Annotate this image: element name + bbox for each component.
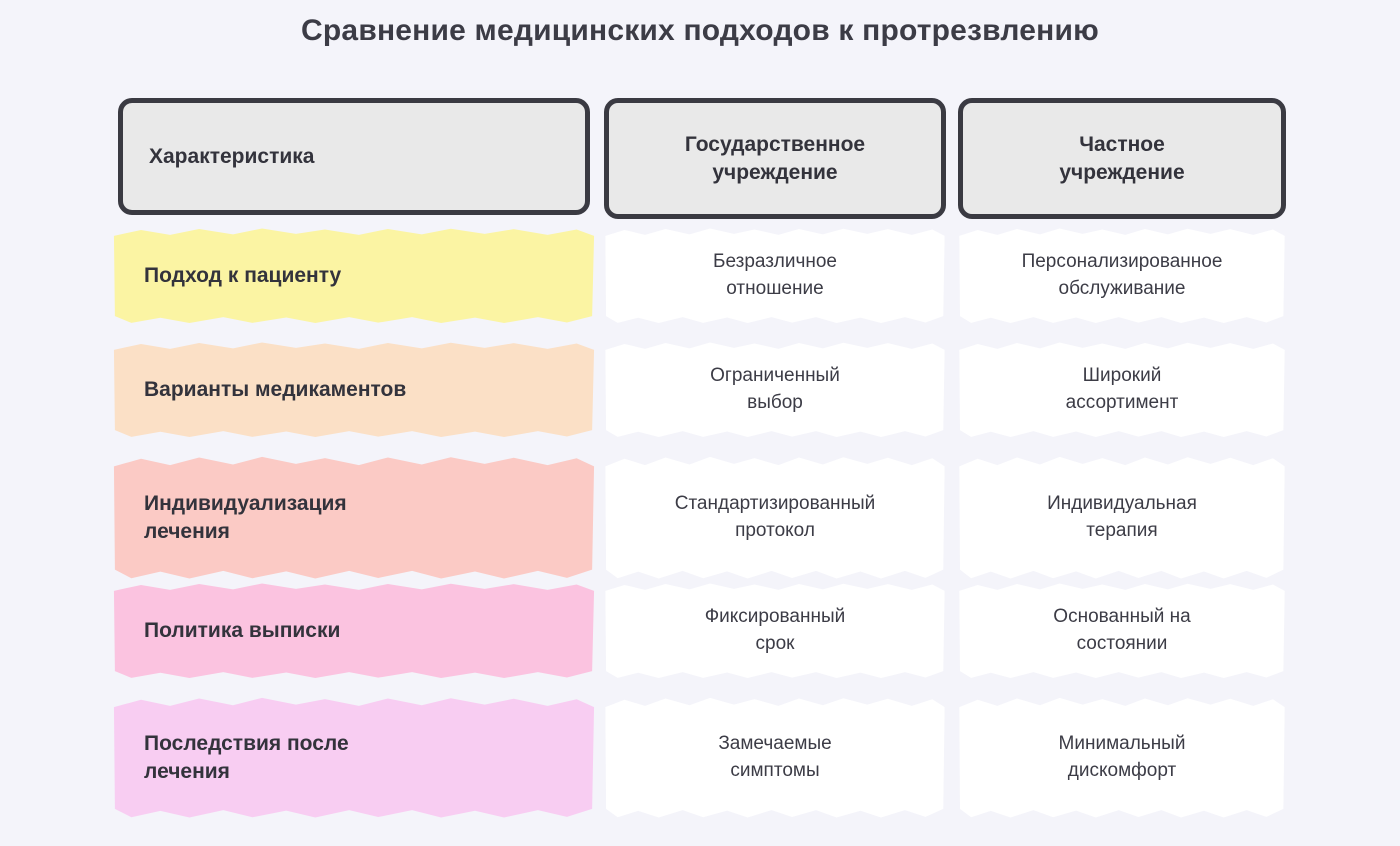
cell-value-text: Замечаемыесимптомы: [706, 731, 843, 785]
row-label-text: Варианты медикаментов: [112, 376, 420, 404]
cell-value-text: Ограниченныйвыбор: [698, 363, 852, 417]
row-label-text: Политика выписки: [112, 617, 354, 645]
header-label: Характеристика: [149, 143, 314, 171]
cell-value-text: Фиксированныйсрок: [693, 604, 858, 658]
cell-value-text: Индивидуальнаятерапия: [1035, 491, 1209, 545]
cell-value-text: Широкийассортимент: [1054, 363, 1191, 417]
row-label-cell: Политика выписки: [112, 582, 596, 680]
row-label-text: Подход к пациенту: [112, 262, 355, 290]
row-label-cell: Варианты медикаментов: [112, 341, 596, 439]
table-cell-private-institution: Минимальныйдискомфорт: [958, 696, 1286, 820]
comparison-table-page: Сравнение медицинских подходов к протрез…: [0, 0, 1400, 846]
cell-value-text: Основанный насостоянии: [1041, 604, 1202, 658]
cell-value-text: Персонализированноеобслуживание: [1010, 249, 1235, 303]
table-cell-private-institution: Персонализированноеобслуживание: [958, 227, 1286, 325]
row-label-text: Последствия послелечения: [112, 730, 363, 786]
table-cell-public-institution: Фиксированныйсрок: [604, 582, 946, 680]
cell-value-text: Безразличноеотношение: [701, 249, 849, 303]
table-header-public-institution: Государственноеучреждение: [604, 98, 946, 219]
table-header-private-institution: Частноеучреждение: [958, 98, 1286, 219]
cell-value-text: Минимальныйдискомфорт: [1047, 731, 1198, 785]
header-label: Государственноеучреждение: [685, 131, 865, 186]
header-label: Частноеучреждение: [1059, 131, 1184, 186]
table-cell-private-institution: Индивидуальнаятерапия: [958, 455, 1286, 581]
row-label-cell: Индивидуализациялечения: [112, 455, 596, 581]
table-cell-public-institution: Стандартизированныйпротокол: [604, 455, 946, 581]
table-cell-public-institution: Безразличноеотношение: [604, 227, 946, 325]
page-title: Сравнение медицинских подходов к протрез…: [0, 14, 1400, 48]
row-label-cell: Подход к пациенту: [112, 227, 596, 325]
table-cell-public-institution: Замечаемыесимптомы: [604, 696, 946, 820]
table-cell-public-institution: Ограниченныйвыбор: [604, 341, 946, 439]
table-cell-private-institution: Широкийассортимент: [958, 341, 1286, 439]
table-header-characteristic: Характеристика: [118, 98, 590, 215]
row-label-cell: Последствия послелечения: [112, 696, 596, 820]
cell-value-text: Стандартизированныйпротокол: [663, 491, 888, 545]
table-cell-private-institution: Основанный насостоянии: [958, 582, 1286, 680]
row-label-text: Индивидуализациялечения: [112, 490, 361, 546]
